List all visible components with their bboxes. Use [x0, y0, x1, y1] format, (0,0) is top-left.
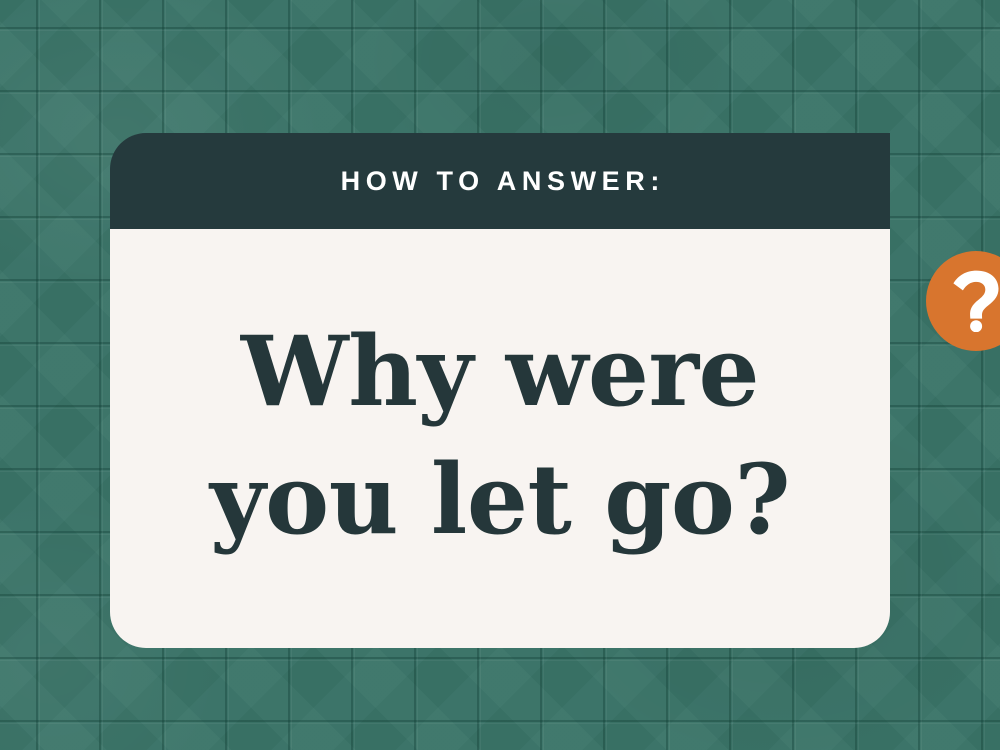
question-headline: Why were you let go? [160, 308, 840, 564]
headline-line-2: you let go? [160, 436, 840, 564]
card-body: Why were you let go? [110, 229, 890, 648]
slide-canvas: HOW TO ANSWER: Why were you let go? [0, 0, 1000, 750]
card-header: HOW TO ANSWER: [110, 133, 890, 229]
question-mark-icon [950, 270, 1000, 332]
headline-line-1: Why were [160, 308, 840, 436]
card-header-label: HOW TO ANSWER: [110, 164, 890, 198]
how-to-answer-card: HOW TO ANSWER: Why were you let go? [110, 133, 890, 648]
